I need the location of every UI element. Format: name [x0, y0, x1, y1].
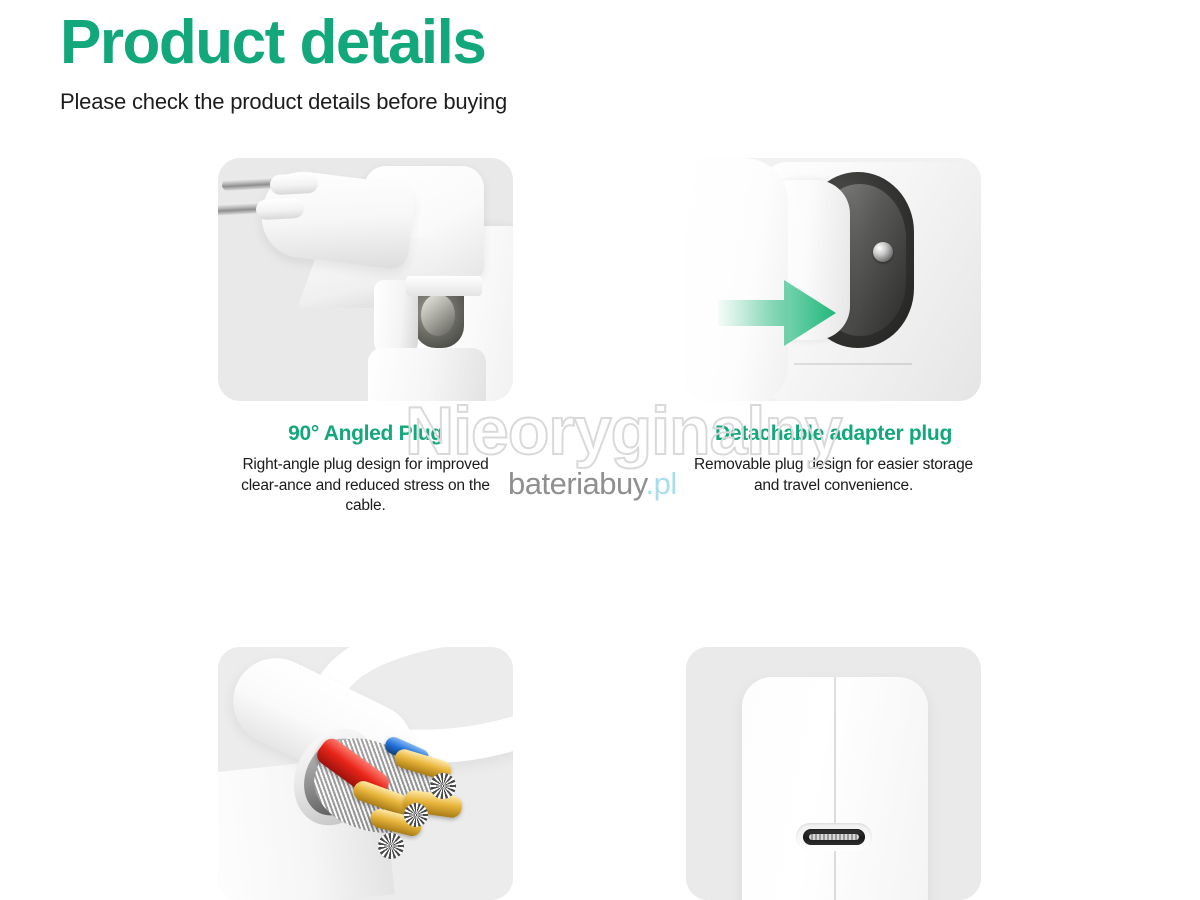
page-subtitle: Please check the product details before … — [60, 89, 1140, 115]
braid-end — [378, 833, 404, 859]
usb-c-port-tongue — [809, 834, 859, 840]
feature-card-copper-wire: Stronger Copper Wire Braided cable with … — [218, 647, 513, 900]
product-details-page: Product details Please check the product… — [0, 0, 1200, 900]
feature-caption-angled-plug: 90° Angled Plug Right-angle plug design … — [218, 401, 513, 517]
usb-c-port-icon — [803, 829, 865, 845]
page-header: Product details Please check the product… — [60, 10, 1140, 115]
feature-image-angled-plug — [218, 158, 513, 401]
feature-card-usb-c-port: USB-C Port Supports fast charging with h… — [686, 647, 981, 900]
plug-shoulder-shape — [406, 276, 482, 296]
feature-description: Removable plug design for easier storage… — [686, 455, 981, 496]
feature-image-copper-wire — [218, 647, 513, 900]
feature-grid: 90° Angled Plug Right-angle plug design … — [218, 158, 986, 900]
plug-pin-sleeve-bottom — [256, 198, 305, 220]
braid-end — [404, 803, 428, 827]
feature-caption-detachable-adapter: Detachable adapter plug Removable plug d… — [686, 401, 981, 496]
detachable-adapter-illustration — [686, 158, 981, 401]
angled-plug-illustration — [218, 158, 513, 401]
charger-lower-shape — [368, 348, 486, 401]
feature-image-usb-c-port — [686, 647, 981, 900]
plug-hinge-ring — [421, 294, 455, 336]
feature-image-detachable-adapter — [686, 158, 981, 401]
plug-pin-sleeve-top — [270, 173, 319, 195]
feature-card-angled-plug: 90° Angled Plug Right-angle plug design … — [218, 158, 513, 517]
right-arrow-icon — [718, 278, 836, 348]
feature-title: 90° Angled Plug — [218, 421, 513, 446]
charger-seam-line — [834, 677, 836, 900]
screw-icon — [873, 242, 893, 262]
adapter-base-line — [794, 363, 912, 365]
usb-c-port-illustration — [686, 647, 981, 900]
feature-title: Detachable adapter plug — [686, 421, 981, 446]
feature-description: Right-angle plug design for improved cle… — [218, 455, 513, 516]
copper-wire-illustration — [218, 647, 513, 900]
braid-end — [430, 773, 456, 799]
feature-card-detachable-adapter: Detachable adapter plug Removable plug d… — [686, 158, 981, 517]
page-title: Product details — [60, 10, 1140, 75]
